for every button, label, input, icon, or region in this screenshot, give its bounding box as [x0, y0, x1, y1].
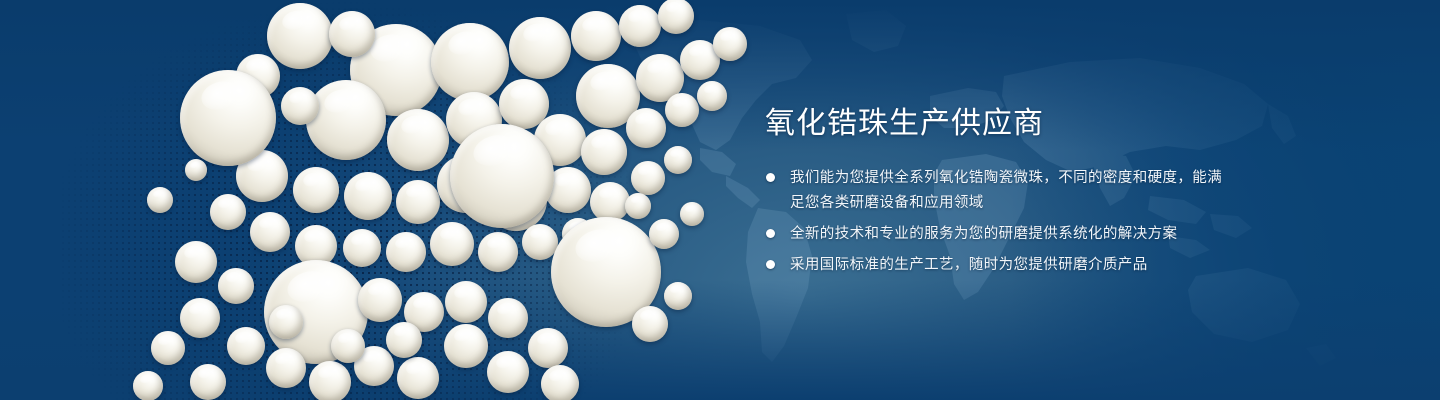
list-item: 我们能为您提供全系列氧化锆陶瓷微珠，不同的密度和硬度，能满足您各类研磨设备和应用… [765, 166, 1235, 216]
banner-headline: 氧化锆珠生产供应商 [765, 104, 1235, 144]
bullet-text: 全新的技术和专业的服务为您的研磨提供系统化的解决方案 [790, 222, 1235, 247]
list-item: 采用国际标准的生产工艺，随时为您提供研磨介质产品 [765, 253, 1235, 278]
bullet-dot-icon [766, 229, 775, 238]
banner-bullet-list: 我们能为您提供全系列氧化锆陶瓷微珠，不同的密度和硬度，能满足您各类研磨设备和应用… [765, 166, 1235, 278]
bullet-dot-icon [766, 173, 775, 182]
banner-content: 氧化锆珠生产供应商 我们能为您提供全系列氧化锆陶瓷微珠，不同的密度和硬度，能满足… [765, 104, 1235, 284]
bullet-dot-icon [766, 260, 775, 269]
list-item: 全新的技术和专业的服务为您的研磨提供系统化的解决方案 [765, 222, 1235, 247]
hero-banner: 氧化锆珠生产供应商 我们能为您提供全系列氧化锆陶瓷微珠，不同的密度和硬度，能满足… [0, 0, 1440, 400]
bullet-text: 我们能为您提供全系列氧化锆陶瓷微珠，不同的密度和硬度，能满足您各类研磨设备和应用… [790, 166, 1235, 216]
bullet-text: 采用国际标准的生产工艺，随时为您提供研磨介质产品 [790, 253, 1235, 278]
halftone-dot-texture [60, 0, 700, 400]
